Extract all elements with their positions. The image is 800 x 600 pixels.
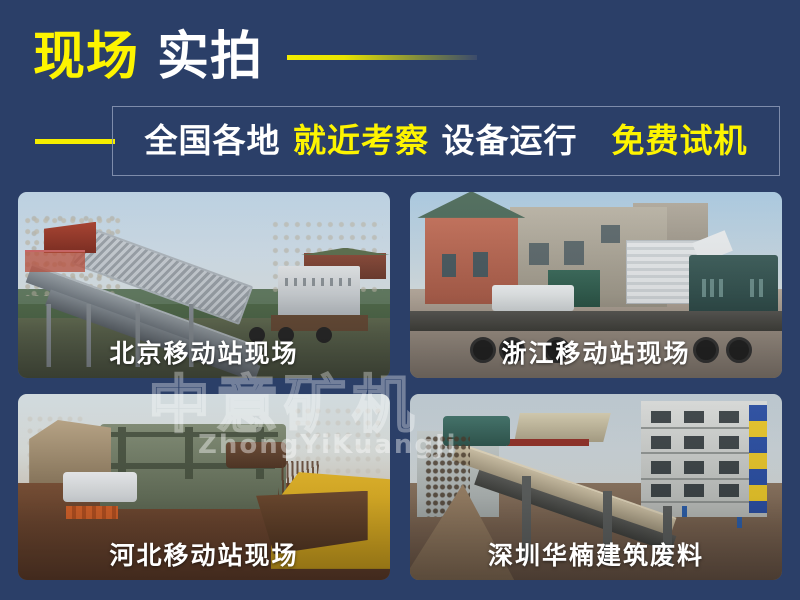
gallery-card-beijing[interactable]: 北京移动站现场 — [18, 192, 390, 378]
title-rest: 实拍 — [157, 27, 263, 87]
subtitle-part-4: 免费试机 — [612, 121, 748, 160]
subtitle-part-3: 设备运行 — [442, 121, 578, 160]
subtitle-box: 全国各地 就近考察 设备运行 免费试机 — [112, 106, 780, 176]
caption-beijing: 北京移动站现场 — [18, 338, 390, 370]
subtitle-part-1: 全国各地 — [145, 121, 281, 160]
subtitle-rule-line — [35, 139, 115, 144]
title-highlight: 现场 — [33, 27, 139, 87]
caption-zhejiang: 浙江移动站现场 — [410, 338, 782, 370]
caption-shenzhen: 深圳华楠建筑废料 — [410, 540, 782, 572]
gallery-card-zhejiang[interactable]: 浙江移动站现场 — [410, 192, 782, 378]
subtitle-part-2: 就近考察 — [293, 121, 429, 160]
photo-gallery-grid: 北京移动站现场 — [18, 192, 782, 580]
gallery-card-hebei[interactable]: 河北移动站现场 — [18, 394, 390, 580]
gallery-card-shenzhen[interactable]: 深圳华楠建筑废料 — [410, 394, 782, 580]
banner-header: 现场 实拍 全国各地 就近考察 设备运行 免费试机 — [0, 0, 800, 190]
subtitle-text: 全国各地 就近考察 设备运行 免费试机 — [145, 121, 748, 161]
title-rule-line — [287, 55, 477, 60]
caption-hebei: 河北移动站现场 — [18, 540, 390, 572]
promo-banner: 现场 实拍 全国各地 就近考察 设备运行 免费试机 — [0, 0, 800, 600]
page-title: 现场 实拍 — [33, 24, 477, 90]
